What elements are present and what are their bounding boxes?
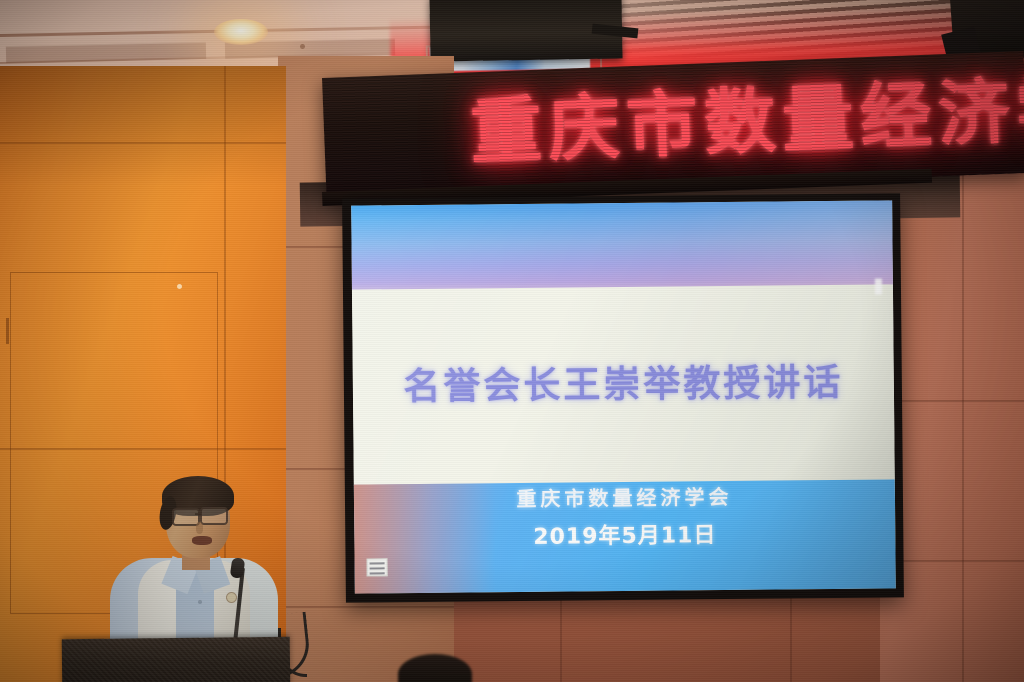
screen-hotspot <box>875 278 882 294</box>
conference-hall-photo: 重庆市数量经济学 名誉会长王崇举教授讲话 重庆市数量经济学会 2019年5月11… <box>0 0 1024 682</box>
glasses-icon <box>200 507 228 525</box>
wall-seam <box>0 142 286 144</box>
left-wall-shading <box>0 66 286 186</box>
speaker-mouth <box>192 536 212 545</box>
ceiling-fixture-dot <box>300 44 305 49</box>
podium <box>62 637 291 682</box>
projection-screen[interactable]: 名誉会长王崇举教授讲话 重庆市数量经济学会 2019年5月11日 <box>342 193 904 602</box>
glasses-bridge <box>195 513 201 515</box>
slide-top-band-tint <box>351 200 893 291</box>
speaker-button <box>198 600 202 604</box>
wall-seam <box>278 606 454 608</box>
speaker <box>104 474 284 654</box>
ceiling-spotlight-icon <box>214 19 268 45</box>
speaker-nose <box>196 522 203 534</box>
slide-title: 名誉会长王崇举教授讲话 <box>353 352 894 411</box>
slide-organization: 重庆市数量经济学会 <box>354 480 895 514</box>
led-banner-text: 重庆市数量经济学 <box>469 72 1024 168</box>
slide-date: 2019年5月11日 <box>354 516 895 553</box>
door-hinge <box>6 318 9 344</box>
wall-seam <box>962 96 964 682</box>
slide-corner-logo-icon <box>366 558 387 576</box>
door-latch-icon <box>177 284 182 289</box>
projection-screen-surface: 名誉会长王崇举教授讲话 重庆市数量经济学会 2019年5月11日 <box>351 200 896 593</box>
speaker-badge <box>226 592 237 603</box>
